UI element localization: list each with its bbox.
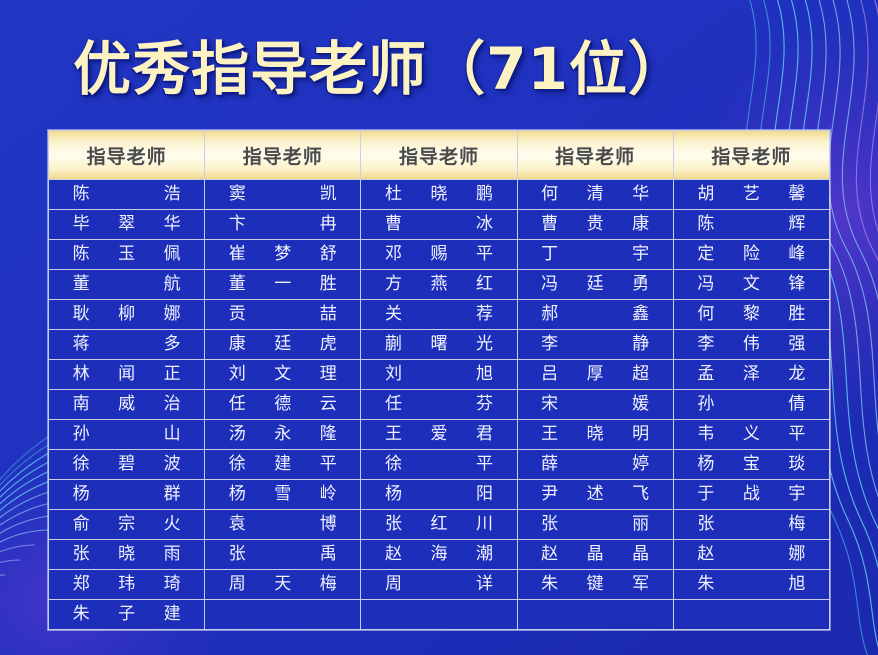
teacher-name-cell: 冯文锋 (673, 270, 829, 300)
teacher-name-cell: 何清华 (517, 180, 673, 210)
column-header-3: 指导老师 (361, 131, 517, 180)
teacher-name-cell: 李伟强 (673, 330, 829, 360)
teacher-name: 吕厚超 (541, 361, 649, 388)
teacher-name: 李静 (541, 331, 649, 358)
teacher-name-cell: 徐平 (361, 450, 517, 480)
teacher-name-cell: 杨宝琰 (673, 450, 829, 480)
teacher-name: 孟泽龙 (697, 361, 805, 388)
teacher-name: 康廷虎 (229, 331, 337, 358)
teacher-name: 任德云 (229, 391, 337, 418)
table-body: 陈浩窦凯杜晓鹏何清华胡艺馨毕翠华卞冉曹冰曹贵康陈辉陈玉佩崔梦舒邓赐平丁宇定险峰董… (49, 180, 830, 630)
table-row: 孙山汤永隆王爱君王晓明韦义平 (49, 420, 830, 450)
teacher-name-cell: 冯廷勇 (517, 270, 673, 300)
teacher-name: 赵娜 (697, 541, 805, 568)
teacher-name: 蒋多 (73, 331, 181, 358)
teacher-name-cell (205, 600, 361, 630)
teacher-name: 王爱君 (385, 421, 493, 448)
teacher-name: 胡艺馨 (697, 181, 805, 208)
teacher-name-cell: 周天梅 (205, 570, 361, 600)
column-header-4: 指导老师 (517, 131, 673, 180)
teacher-name: 杨阳 (385, 481, 493, 508)
teacher-name-cell: 韦义平 (673, 420, 829, 450)
teacher-name: 冯文锋 (697, 271, 805, 298)
teacher-name: 王晓明 (541, 421, 649, 448)
teacher-name-cell: 刘旭 (361, 360, 517, 390)
teacher-name: 何黎胜 (697, 301, 805, 328)
teacher-name: 南威治 (73, 391, 181, 418)
teacher-name-cell: 崔梦舒 (205, 240, 361, 270)
column-header-1: 指导老师 (49, 131, 205, 180)
teacher-name-cell: 李静 (517, 330, 673, 360)
teacher-name: 窦凯 (229, 181, 337, 208)
column-header-2: 指导老师 (205, 131, 361, 180)
teacher-name-cell: 任德云 (205, 390, 361, 420)
teacher-name-cell: 曹贵康 (517, 210, 673, 240)
teacher-name-cell (517, 600, 673, 630)
teacher-name-cell: 张禹 (205, 540, 361, 570)
teacher-name: 刘文理 (229, 361, 337, 388)
table-row: 林闻正刘文理刘旭吕厚超孟泽龙 (49, 360, 830, 390)
teacher-name-cell: 董航 (49, 270, 205, 300)
teacher-name-cell: 赵晶晶 (517, 540, 673, 570)
teacher-name-cell: 陈浩 (49, 180, 205, 210)
teacher-name: 徐碧波 (73, 451, 181, 478)
teacher-name: 董一胜 (229, 271, 337, 298)
teacher-name-cell: 孟泽龙 (673, 360, 829, 390)
slide-canvas: 优秀指导老师（71位） 指导老师 指导老师 指导老师 指导老师 指导老师 陈浩窦… (0, 0, 878, 655)
table-row: 徐碧波徐建平徐平薛婷杨宝琰 (49, 450, 830, 480)
teacher-name: 杨雪岭 (229, 481, 337, 508)
table-row: 陈玉佩崔梦舒邓赐平丁宇定险峰 (49, 240, 830, 270)
table-row: 俞宗火袁博张红川张丽张梅 (49, 510, 830, 540)
teacher-name-cell: 郝鑫 (517, 300, 673, 330)
teacher-name: 曹贵康 (541, 211, 649, 238)
teacher-name-cell: 陈辉 (673, 210, 829, 240)
teacher-name-cell (361, 600, 517, 630)
teacher-name: 耿柳娜 (73, 301, 181, 328)
teacher-name: 周详 (385, 571, 493, 598)
teacher-name: 赵晶晶 (541, 541, 649, 568)
teacher-name: 杨宝琰 (697, 451, 805, 478)
teacher-name-cell: 朱旭 (673, 570, 829, 600)
teacher-name-cell: 俞宗火 (49, 510, 205, 540)
table-header-row: 指导老师 指导老师 指导老师 指导老师 指导老师 (49, 131, 830, 180)
teacher-name: 任芬 (385, 391, 493, 418)
teacher-name-cell: 耿柳娜 (49, 300, 205, 330)
teacher-name-cell: 丁宇 (517, 240, 673, 270)
teacher-name: 贡喆 (229, 301, 337, 328)
table-row: 郑玮琦周天梅周详朱键军朱旭 (49, 570, 830, 600)
teacher-name: 董航 (73, 271, 181, 298)
teacher-name-cell: 薛婷 (517, 450, 673, 480)
teacher-name: 崔梦舒 (229, 241, 337, 268)
teacher-name: 何清华 (541, 181, 649, 208)
teacher-name-cell: 孙倩 (673, 390, 829, 420)
page-title-text: 优秀指导老师（71位） (73, 22, 687, 106)
teacher-name-cell (673, 600, 829, 630)
table-header: 指导老师 指导老师 指导老师 指导老师 指导老师 (49, 131, 830, 180)
teacher-name: 韦义平 (697, 421, 805, 448)
teacher-name: 孙倩 (697, 391, 805, 418)
teacher-name-cell: 尹述飞 (517, 480, 673, 510)
teacher-name-cell: 徐建平 (205, 450, 361, 480)
teacher-name-cell: 吕厚超 (517, 360, 673, 390)
teacher-name: 定险峰 (697, 241, 805, 268)
teacher-name-cell: 邓赐平 (361, 240, 517, 270)
teacher-name: 朱旭 (697, 571, 805, 598)
teacher-name-cell: 孙山 (49, 420, 205, 450)
table-row: 南威治任德云任芬宋媛孙倩 (49, 390, 830, 420)
teacher-name: 孙山 (73, 421, 181, 448)
teacher-name-cell: 方燕红 (361, 270, 517, 300)
teacher-name: 杨群 (73, 481, 181, 508)
teacher-name: 毕翠华 (73, 211, 181, 238)
teacher-name: 薛婷 (541, 451, 649, 478)
teacher-name-cell: 定险峰 (673, 240, 829, 270)
teacher-name: 关荐 (385, 301, 493, 328)
column-header-5: 指导老师 (673, 131, 829, 180)
teacher-name: 李伟强 (697, 331, 805, 358)
teacher-name-cell: 刘文理 (205, 360, 361, 390)
teacher-roster-table: 指导老师 指导老师 指导老师 指导老师 指导老师 陈浩窦凯杜晓鹏何清华胡艺馨毕翠… (48, 130, 830, 630)
teacher-name-cell: 卞冉 (205, 210, 361, 240)
teacher-name: 宋媛 (541, 391, 649, 418)
teacher-name: 丁宇 (541, 241, 649, 268)
teacher-name-cell: 朱键军 (517, 570, 673, 600)
teacher-name: 陈浩 (73, 181, 181, 208)
teacher-name: 张禹 (229, 541, 337, 568)
teacher-name-cell: 宋媛 (517, 390, 673, 420)
teacher-name-cell: 张梅 (673, 510, 829, 540)
teacher-name: 冯廷勇 (541, 271, 649, 298)
teacher-name: 林闻正 (73, 361, 181, 388)
teacher-name-cell: 曹冰 (361, 210, 517, 240)
teacher-name-cell: 贡喆 (205, 300, 361, 330)
teacher-name-cell: 杨群 (49, 480, 205, 510)
page-title: 优秀指导老师（71位） (0, 22, 760, 106)
teacher-name: 周天梅 (229, 571, 337, 598)
teacher-name-cell: 毕翠华 (49, 210, 205, 240)
table-row: 张晓雨张禹赵海潮赵晶晶赵娜 (49, 540, 830, 570)
table-row: 毕翠华卞冉曹冰曹贵康陈辉 (49, 210, 830, 240)
teacher-name: 邓赐平 (385, 241, 493, 268)
teacher-name-cell: 窦凯 (205, 180, 361, 210)
teacher-name: 于战宇 (697, 481, 805, 508)
teacher-name: 张梅 (697, 511, 805, 538)
teacher-name-cell: 张红川 (361, 510, 517, 540)
teacher-name: 郝鑫 (541, 301, 649, 328)
teacher-roster-table-container: 指导老师 指导老师 指导老师 指导老师 指导老师 陈浩窦凯杜晓鹏何清华胡艺馨毕翠… (48, 130, 830, 630)
teacher-name-cell: 关荐 (361, 300, 517, 330)
teacher-name-cell: 任芬 (361, 390, 517, 420)
teacher-name-cell: 徐碧波 (49, 450, 205, 480)
teacher-name: 陈玉佩 (73, 241, 181, 268)
teacher-name-cell: 王晓明 (517, 420, 673, 450)
teacher-name: 陈辉 (697, 211, 805, 238)
teacher-name-cell: 朱子建 (49, 600, 205, 630)
teacher-name: 张丽 (541, 511, 649, 538)
teacher-name: 曹冰 (385, 211, 493, 238)
teacher-name-cell: 胡艺馨 (673, 180, 829, 210)
teacher-name-cell: 蒋多 (49, 330, 205, 360)
teacher-name-cell: 汤永隆 (205, 420, 361, 450)
teacher-name-cell: 袁博 (205, 510, 361, 540)
teacher-name-cell: 周详 (361, 570, 517, 600)
teacher-name: 杜晓鹏 (385, 181, 493, 208)
teacher-name-cell: 陈玉佩 (49, 240, 205, 270)
teacher-name-cell: 张丽 (517, 510, 673, 540)
table-row: 耿柳娜贡喆关荐郝鑫何黎胜 (49, 300, 830, 330)
teacher-name: 郑玮琦 (73, 571, 181, 598)
teacher-name-cell: 于战宇 (673, 480, 829, 510)
teacher-name-cell: 杨阳 (361, 480, 517, 510)
teacher-name: 尹述飞 (541, 481, 649, 508)
teacher-name: 徐建平 (229, 451, 337, 478)
teacher-name: 卞冉 (229, 211, 337, 238)
teacher-name-cell: 董一胜 (205, 270, 361, 300)
teacher-name-cell: 康廷虎 (205, 330, 361, 360)
teacher-name-cell: 林闻正 (49, 360, 205, 390)
teacher-name-cell: 赵海潮 (361, 540, 517, 570)
teacher-name-cell: 杨雪岭 (205, 480, 361, 510)
teacher-name-cell: 蒯曙光 (361, 330, 517, 360)
teacher-name: 朱键军 (541, 571, 649, 598)
teacher-name: 方燕红 (385, 271, 493, 298)
teacher-name: 袁博 (229, 511, 337, 538)
teacher-name: 汤永隆 (229, 421, 337, 448)
teacher-name: 徐平 (385, 451, 493, 478)
table-row: 杨群杨雪岭杨阳尹述飞于战宇 (49, 480, 830, 510)
teacher-name: 朱子建 (73, 601, 181, 628)
teacher-name-cell: 赵娜 (673, 540, 829, 570)
teacher-name: 张红川 (385, 511, 493, 538)
teacher-name-cell: 何黎胜 (673, 300, 829, 330)
teacher-name-cell: 张晓雨 (49, 540, 205, 570)
teacher-name-cell: 王爱君 (361, 420, 517, 450)
table-row: 蒋多康廷虎蒯曙光李静李伟强 (49, 330, 830, 360)
teacher-name-cell: 杜晓鹏 (361, 180, 517, 210)
table-row: 朱子建 (49, 600, 830, 630)
teacher-name: 蒯曙光 (385, 331, 493, 358)
teacher-name: 俞宗火 (73, 511, 181, 538)
teacher-name-cell: 南威治 (49, 390, 205, 420)
table-row: 陈浩窦凯杜晓鹏何清华胡艺馨 (49, 180, 830, 210)
table-row: 董航董一胜方燕红冯廷勇冯文锋 (49, 270, 830, 300)
teacher-name: 赵海潮 (385, 541, 493, 568)
teacher-name: 张晓雨 (73, 541, 181, 568)
teacher-name-cell: 郑玮琦 (49, 570, 205, 600)
teacher-name: 刘旭 (385, 361, 493, 388)
